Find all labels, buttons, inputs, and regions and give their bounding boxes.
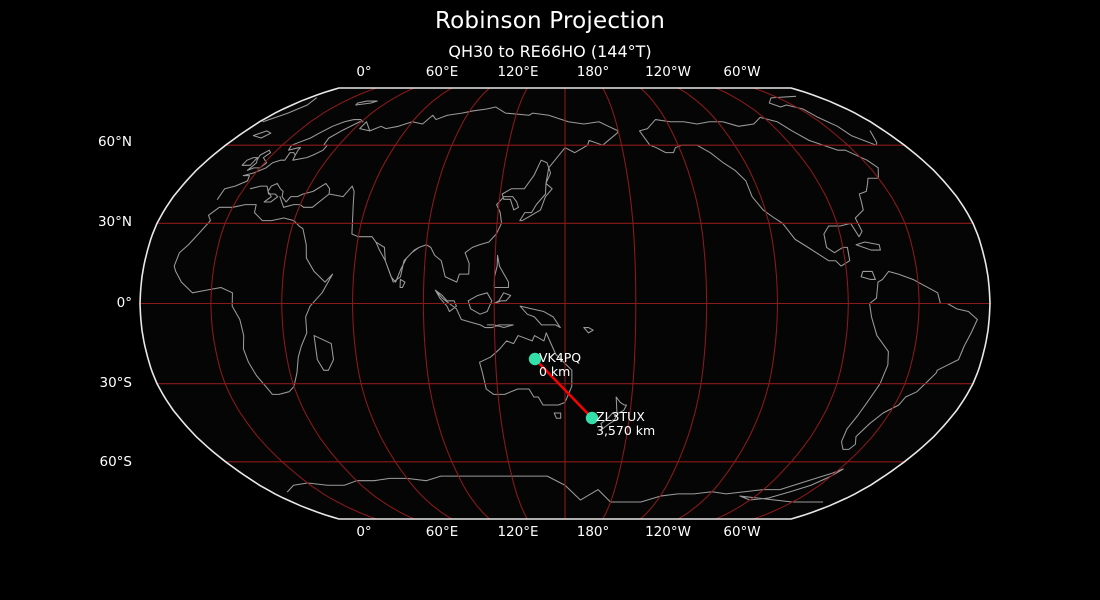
station-callsign-vk4pq: VK4PQ [539,350,581,365]
robinson-map [0,0,1100,600]
station-callsign-zl3tux: ZL3TUX [596,409,645,424]
lon-tick-bottom-4: 120°W [645,524,691,540]
lat-tick-3: 30°S [60,375,132,391]
lon-tick-top-0: 0° [356,64,371,80]
lat-tick-0: 60°N [60,134,132,150]
lon-tick-bottom-5: 60°W [723,524,760,540]
lon-tick-top-3: 180° [577,64,610,80]
lon-tick-top-1: 60°E [426,64,458,80]
lon-tick-bottom-0: 0° [356,524,371,540]
lon-tick-bottom-2: 120°E [497,524,538,540]
lat-tick-2: 0° [60,295,132,311]
lat-tick-1: 30°N [60,214,132,230]
ocean-fill [0,0,1100,600]
station-distance-zl3tux: 3,570 km [596,423,655,438]
station-distance-vk4pq: 0 km [539,364,570,379]
lat-tick-4: 60°S [60,454,132,470]
lon-tick-bottom-3: 180° [577,524,610,540]
lon-tick-bottom-1: 60°E [426,524,458,540]
lon-tick-top-2: 120°E [497,64,538,80]
lon-tick-top-4: 120°W [645,64,691,80]
map-visualization: Robinson Projection QH30 to RE66HO (144°… [0,0,1100,600]
lon-tick-top-5: 60°W [723,64,760,80]
